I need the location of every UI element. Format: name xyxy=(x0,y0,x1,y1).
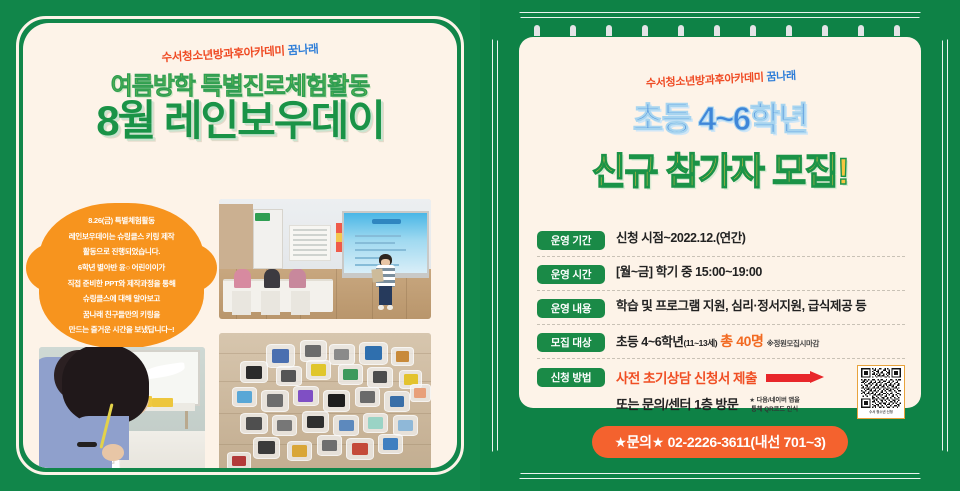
qr-instruction: ★ 다음/네이버 앱을 통해 QR코드 인식 xyxy=(749,396,800,415)
contact-phone[interactable]: ★문의★ 02-2226-3611(내선 701~3) xyxy=(592,426,847,458)
description-bubble: 8.26(금) 특별체험활동 레인보우데이는 슈링클스 키링 제작 활동으로 진… xyxy=(39,203,204,348)
info-label-hours: 운영 시간 xyxy=(537,265,605,284)
poster-pair: 수서청소년방과후아카데미 꿈나래 여름방학 특별진로체험활동 8월 레인보우데이… xyxy=(0,0,960,491)
girl-drawing-photo xyxy=(39,347,205,468)
info-row-apply: 신청 방법 사전 초기상담 신청서 제출 또는 문의/센터 1층 방문 ★ 다음… xyxy=(537,359,905,415)
info-label-contents: 운영 내용 xyxy=(537,299,605,318)
bubble-line-0: 8.26(금) 특별체험활동 xyxy=(67,213,175,229)
bubble-line-6: 꿈나래 친구들만의 키링을 xyxy=(67,307,175,323)
info-value-contents: 학습 및 프로그램 지원, 심리·정서지원, 급식제공 등 xyxy=(616,298,866,315)
info-label-apply: 신청 방법 xyxy=(537,368,605,387)
bubble-line-4: 직접 준비한 PPT와 제작과정을 통해 xyxy=(67,276,175,292)
info-value-target: 초등 4~6학년(11~13세) 총 40명 ※정원모집시마감 xyxy=(616,332,819,351)
bubble-line-5: 슈링클스에 대해 알아보고 xyxy=(67,291,175,307)
right-title-line2: 신규 참가자 모집! xyxy=(519,141,921,195)
bubble-line-3: 6학년 별아반 윤○ 어린이이가 xyxy=(67,260,175,276)
apply-line1: 사전 초기상담 신청서 제출 xyxy=(616,367,757,387)
right-org-brand: 꿈나래 xyxy=(766,70,796,84)
info-value-period: 신청 시점~2022.12.(연간) xyxy=(616,230,746,247)
right-org-name: 수서청소년방과후아카데미 xyxy=(646,72,764,90)
target-count: 총 40명 xyxy=(720,333,763,349)
description-bubble-text: 8.26(금) 특별체험활동 레인보우데이는 슈링클스 키링 제작 활동으로 진… xyxy=(67,213,175,338)
right-org-line: 수서청소년방과후아카데미 꿈나래 xyxy=(518,27,922,98)
info-row-target: 모집 대상 초등 4~6학년(11~13세) 총 40명 ※정원모집시마감 xyxy=(537,325,905,359)
info-label-period: 운영 기간 xyxy=(537,231,605,250)
qr-instruction-line2: 통해 QR코드 인식 xyxy=(751,406,798,413)
qr-code[interactable]: 수서 청소년 신청 xyxy=(857,365,905,419)
right-title-line1: 초등 4~6학년 xyxy=(519,92,921,140)
bubble-line-7: 만드는 즐거운 시간을 보냈답니다~! xyxy=(67,322,175,338)
target-age: (11~13세) xyxy=(683,338,717,348)
target-note: ※정원모집시마감 xyxy=(767,339,819,348)
info-value-hours: [월~금] 학기 중 15:00~19:00 xyxy=(616,264,762,281)
right-poster: 수서청소년방과후아카데미 꿈나래 초등 4~6학년 신규 참가자 모집! 운영 … xyxy=(480,0,960,491)
qr-caption: 수서 청소년 신청 xyxy=(860,409,902,414)
left-org-name: 수서청소년방과후아카데미 xyxy=(161,46,285,65)
left-title-line1: 여름방학 특별진로체험활동 xyxy=(23,66,457,101)
left-org-brand: 꿈나래 xyxy=(287,44,318,58)
right-poster-card: 수서청소년방과후아카데미 꿈나래 초등 4~6학년 신규 참가자 모집! 운영 … xyxy=(519,37,921,408)
info-row-period: 운영 기간 신청 시점~2022.12.(연간) xyxy=(537,223,905,257)
apply-line2: 또는 문의/센터 1층 방문 xyxy=(616,394,738,413)
left-title-line2: 8월 레인보우데이 xyxy=(23,99,457,143)
left-poster: 수서청소년방과후아카데미 꿈나래 여름방학 특별진로체험활동 8월 레인보우데이… xyxy=(0,0,480,491)
classroom-presentation-photo xyxy=(219,199,431,319)
info-rows: 운영 기간 신청 시점~2022.12.(연간) 운영 시간 [월~금] 학기 … xyxy=(537,223,905,415)
keychains-photo xyxy=(219,333,431,468)
qr-code-icon xyxy=(860,368,902,408)
qr-instruction-line1: ★ 다음/네이버 앱을 xyxy=(749,397,800,404)
apply-body: 사전 초기상담 신청서 제출 또는 문의/센터 1층 방문 ★ 다음/네이버 앱… xyxy=(616,367,905,415)
info-row-hours: 운영 시간 [월~금] 학기 중 15:00~19:00 xyxy=(537,257,905,291)
bubble-line-1: 레인보우데이는 슈링클스 키링 제작 xyxy=(67,229,175,245)
info-row-contents: 운영 내용 학습 및 프로그램 지원, 심리·정서지원, 급식제공 등 xyxy=(537,291,905,325)
target-grade: 초등 4~6학년 xyxy=(616,335,683,349)
bubble-line-2: 활동으로 진행되었습니다. xyxy=(67,244,175,260)
left-poster-card: 수서청소년방과후아카데미 꿈나래 여름방학 특별진로체험활동 8월 레인보우데이… xyxy=(23,23,457,468)
info-label-target: 모집 대상 xyxy=(537,333,605,352)
left-content-area: 8.26(금) 특별체험활동 레인보우데이는 슈링클스 키링 제작 활동으로 진… xyxy=(23,199,457,454)
contact-banner: ★문의★ 02-2226-3611(내선 701~3) xyxy=(480,426,960,458)
right-arrow-icon xyxy=(766,372,828,383)
